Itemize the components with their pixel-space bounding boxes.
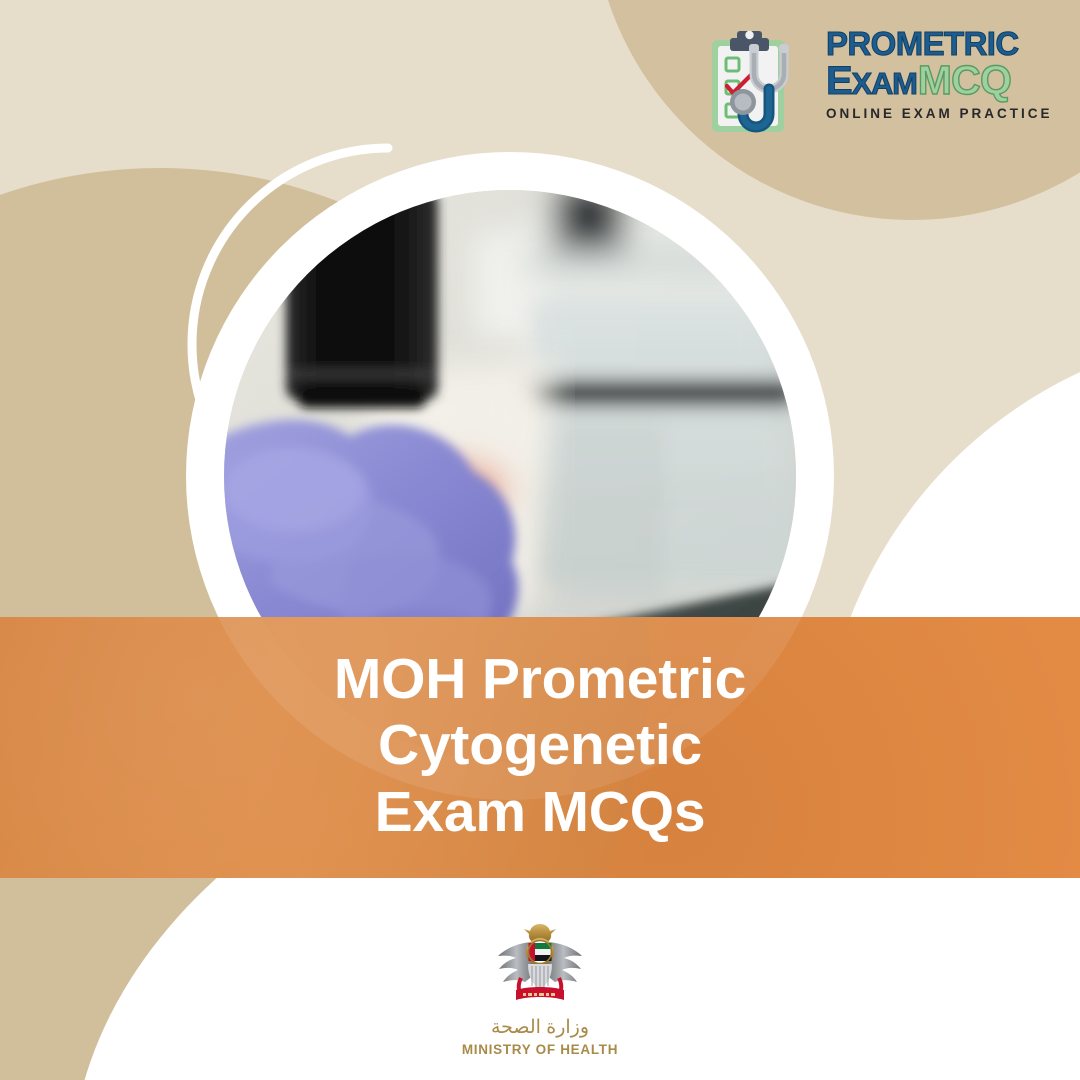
page-title-line-3: Exam MCQs xyxy=(334,779,746,845)
prometric-exam-mcq-logo[interactable]: PROMETRIC EXAM MCQ ONLINE EXAM PRACTICE xyxy=(706,24,1062,146)
ministry-name-arabic: وزارة الصحة xyxy=(491,1016,589,1039)
logo-wordmark: PROMETRIC EXAM MCQ ONLINE EXAM PRACTICE xyxy=(826,24,1053,121)
logo-exam-text: EXAM xyxy=(826,62,917,100)
logo-tagline: ONLINE EXAM PRACTICE xyxy=(826,106,1053,121)
poster-canvas: MOH Prometric Cytogenetic Exam MCQs xyxy=(0,0,1080,1080)
uae-falcon-emblem-icon xyxy=(494,922,586,1006)
page-title: MOH Prometric Cytogenetic Exam MCQs xyxy=(334,646,746,848)
ministry-of-health-logo: وزارة الصحة MINISTRY OF HEALTH xyxy=(0,922,1080,1057)
clipboard-stethoscope-icon xyxy=(706,24,824,144)
ministry-name-english: MINISTRY OF HEALTH xyxy=(462,1042,618,1057)
title-container: MOH Prometric Cytogenetic Exam MCQs xyxy=(0,617,1080,878)
page-title-line-2: Cytogenetic xyxy=(334,712,746,778)
logo-mcq-text: MCQ xyxy=(918,61,1011,100)
page-title-line-1: MOH Prometric xyxy=(334,646,746,712)
logo-line-exammcq: EXAM MCQ xyxy=(826,61,1053,100)
logo-line-prometric: PROMETRIC xyxy=(826,28,1053,60)
